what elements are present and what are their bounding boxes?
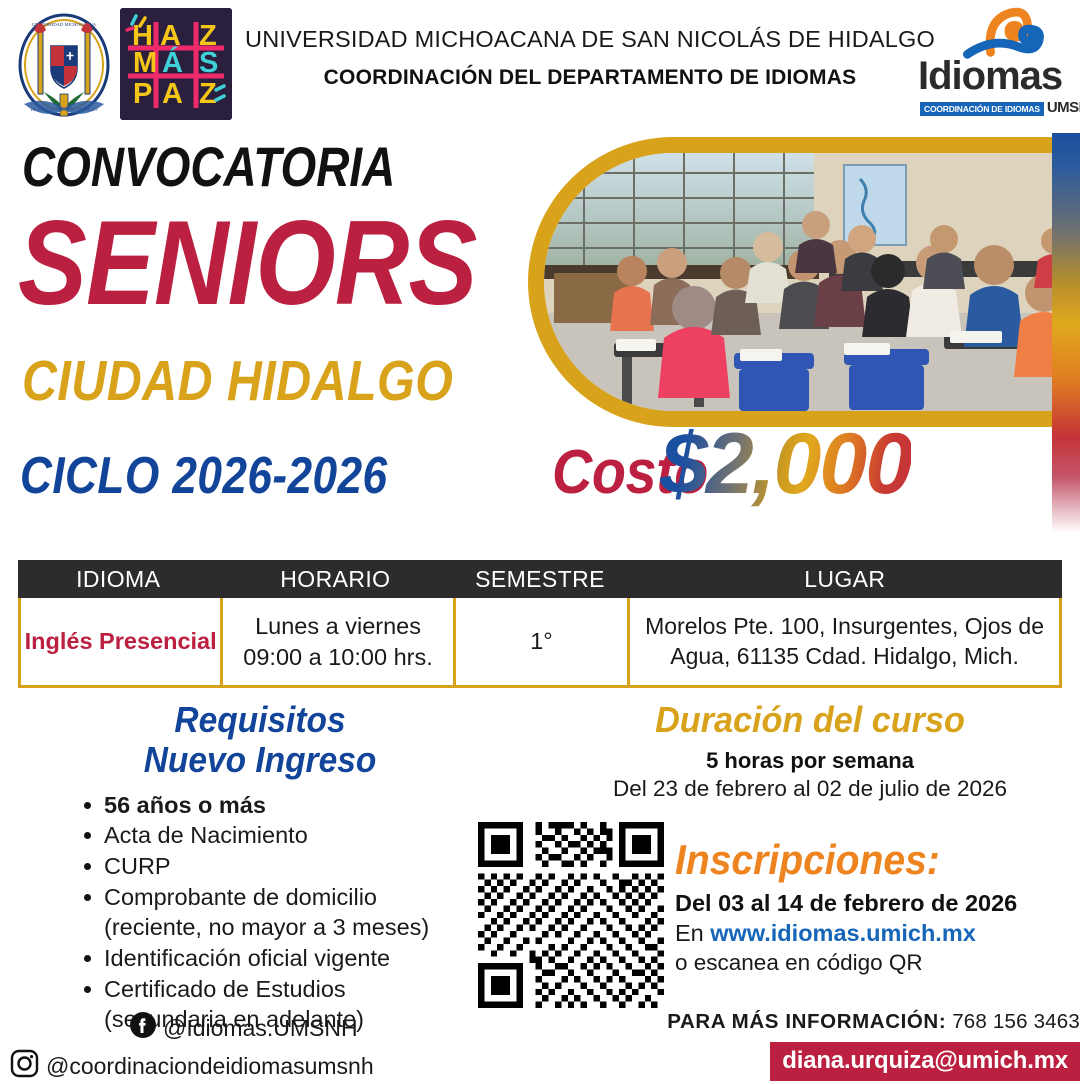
facebook-icon xyxy=(130,1012,156,1044)
poster-header: UNIVERSIDAD MICHOACANA DE SAN NICOLÁS DE… xyxy=(0,0,1080,125)
requisito-item: 56 años o más xyxy=(82,791,500,821)
cell-horario: Lunes a viernes 09:00 a 10:00 hrs. xyxy=(220,598,453,685)
cell-idioma: Inglés Presencial xyxy=(21,598,220,685)
requisito-text: Comprobante de domicilio xyxy=(104,884,377,910)
svg-text:Á: Á xyxy=(162,45,183,79)
phone-number: 768 156 3463 xyxy=(952,1010,1080,1033)
requisito-item: Identificación oficial vigente xyxy=(82,944,500,974)
requisito-item: Acta de Nacimiento xyxy=(82,821,500,851)
requisito-item: Comprobante de domicilio(reciente, no ma… xyxy=(82,883,500,943)
requisitos-title-line2: Nuevo Ingreso xyxy=(37,740,483,780)
duracion-dates: Del 23 de febrero al 02 de julio de 2026 xyxy=(560,776,1060,802)
svg-text:A: A xyxy=(162,78,183,110)
table-header-horario: HORARIO xyxy=(218,560,452,598)
institution-name: UNIVERSIDAD MICHOACANA DE SAN NICOLÁS DE… xyxy=(240,26,940,53)
poster-canvas: UNIVERSIDAD MICHOACANA DE SAN NICOLÁS DE… xyxy=(0,0,1080,1080)
decorative-gradient-bar xyxy=(1052,133,1080,533)
email-badge[interactable]: diana.urquiza@umich.mx xyxy=(770,1042,1080,1081)
page-title: SENIORS xyxy=(18,203,476,323)
requisito-subtext: (reciente, no mayor a 3 meses) xyxy=(104,913,500,943)
website-prefix: En xyxy=(675,920,710,946)
instagram-row[interactable]: @coordinaciondeidiomasumsnh xyxy=(0,1049,540,1084)
inscripciones-dates: Del 03 al 14 de febrero de 2026 xyxy=(675,890,1075,917)
website-link[interactable]: www.idiomas.umich.mx xyxy=(710,920,976,946)
duracion-title: Duración del curso xyxy=(573,700,1048,740)
svg-text:P: P xyxy=(133,78,152,110)
svg-text:M: M xyxy=(133,47,157,79)
cell-semestre: 1° xyxy=(453,598,627,685)
idiomas-tagline: COORDINACIÓN DE IDIOMAS xyxy=(920,102,1044,116)
table-header-row: IDIOMA HORARIO SEMESTRE LUGAR xyxy=(18,560,1062,598)
requisito-item: CURP xyxy=(82,852,500,882)
requisito-text: Identificación oficial vigente xyxy=(104,945,390,971)
facebook-row[interactable]: @Idiomas.UMSNH xyxy=(0,1012,540,1044)
inscripciones-section: Inscripciones: Del 03 al 14 de febrero d… xyxy=(675,838,1075,976)
umsnh-crest-icon: UNIVERSIDAD MICHOACANA DE SAN NICOLÁS DE… xyxy=(14,8,114,118)
table-row: Inglés Presencial Lunes a viernes 09:00 … xyxy=(18,598,1062,688)
duracion-section: Duración del curso 5 horas por semana De… xyxy=(560,700,1060,802)
table-header-idioma: IDIOMA xyxy=(18,560,218,598)
requisitos-title: Requisitos Nuevo Ingreso xyxy=(37,700,483,781)
kicker-convocatoria: CONVOCATORIA xyxy=(22,139,395,195)
inscripciones-title: Inscripciones: xyxy=(675,838,1047,882)
idiomas-wordmark: Idiomas xyxy=(918,56,1068,96)
subtitle-city: CIUDAD HIDALGO xyxy=(22,353,453,410)
info-label: PARA MÁS INFORMACIÓN: xyxy=(667,1010,946,1033)
cost-amount: $2,000 xyxy=(660,421,911,507)
svg-text:S: S xyxy=(199,47,218,79)
qr-note: o escanea en código QR xyxy=(675,950,1075,976)
hero-section: CONVOCATORIA SENIORS CIUDAD HIDALGO CICL… xyxy=(0,125,1080,540)
svg-text:Z: Z xyxy=(199,78,217,110)
requisito-text: Acta de Nacimiento xyxy=(104,822,308,848)
instagram-icon xyxy=(10,1049,39,1084)
instagram-handle: @coordinaciondeidiomasumsnh xyxy=(46,1053,374,1080)
table-header-lugar: LUGAR xyxy=(628,560,1062,598)
requisitos-list: 56 años o másActa de NacimientoCURPCompr… xyxy=(82,791,500,1035)
idiomas-umsnh-suffix: UMSNH xyxy=(1047,99,1080,116)
facebook-handle: @Idiomas.UMSNH xyxy=(163,1015,358,1042)
requisitos-section: Requisitos Nuevo Ingreso 56 años o másAc… xyxy=(20,700,500,1035)
idiomas-tagline-bar: COORDINACIÓN DE IDIOMAS UMSNH xyxy=(920,99,1080,116)
department-name: COORDINACIÓN DEL DEPARTAMENTO DE IDIOMAS xyxy=(240,66,940,90)
idiomas-logo: Idiomas COORDINACIÓN DE IDIOMAS UMSNH xyxy=(918,8,1068,118)
qr-code[interactable] xyxy=(478,822,664,1008)
requisito-text: CURP xyxy=(104,853,171,879)
cycle-label: CICLO 2026-2026 xyxy=(20,450,388,502)
inscripciones-website-line: En www.idiomas.umich.mx xyxy=(675,920,1075,947)
haz-mas-paz-logo: H A Z M Á S P A Z xyxy=(120,8,232,120)
course-table: IDIOMA HORARIO SEMESTRE LUGAR Inglés Pre… xyxy=(18,560,1062,688)
header-titles: UNIVERSIDAD MICHOACANA DE SAN NICOLÁS DE… xyxy=(240,26,940,90)
requisito-text: 56 años o más xyxy=(104,792,266,818)
requisito-text: Certificado de Estudios xyxy=(104,976,346,1002)
cell-lugar: Morelos Pte. 100, Insurgentes, Ojos de A… xyxy=(627,598,1059,685)
contact-block: PARA MÁS INFORMACIÓN: 768 156 3463 diana… xyxy=(600,1010,1080,1081)
requisitos-title-line1: Requisitos xyxy=(37,700,483,740)
classroom-photo xyxy=(528,137,1073,427)
info-line: PARA MÁS INFORMACIÓN: 768 156 3463 xyxy=(600,1010,1080,1034)
table-header-semestre: SEMESTRE xyxy=(452,560,627,598)
social-links: @Idiomas.UMSNH @coordinaciondeidiomasums… xyxy=(0,1012,540,1084)
duracion-hours: 5 horas por semana xyxy=(560,748,1060,774)
